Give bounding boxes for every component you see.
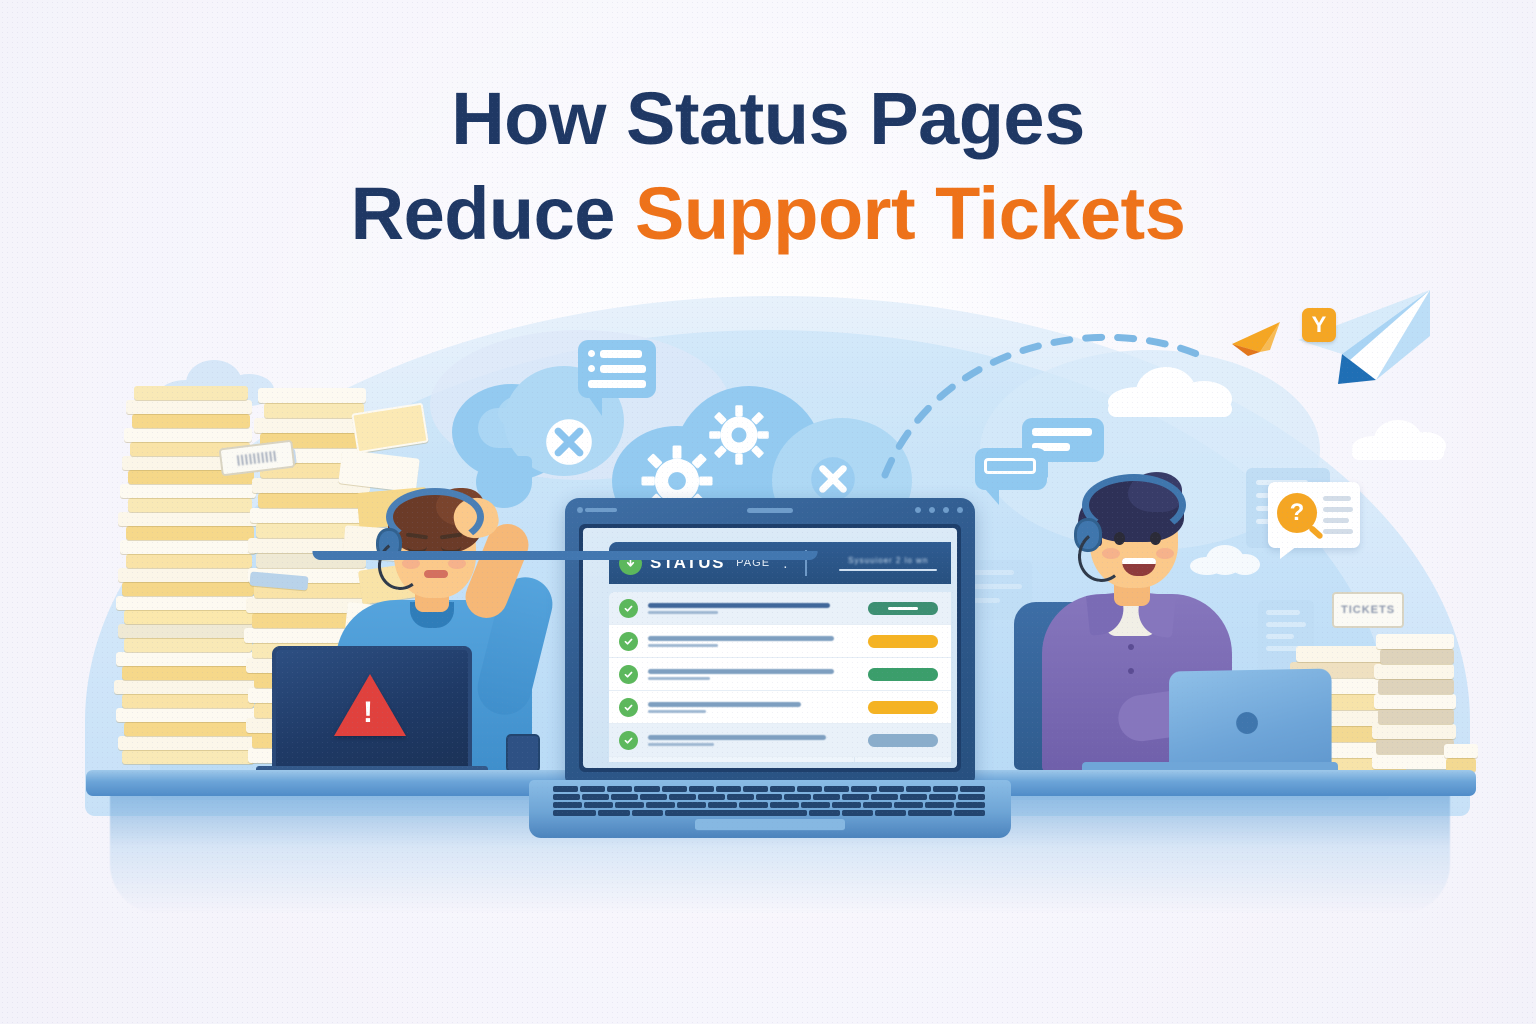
status-badge-inner <box>888 607 918 610</box>
service-name-placeholder <box>648 636 855 647</box>
service-name-placeholder <box>648 669 855 680</box>
magnifier-handle-icon <box>1308 525 1324 540</box>
status-cell <box>855 701 951 714</box>
keyboard-key[interactable] <box>646 802 675 808</box>
status-cell <box>855 602 951 615</box>
check-circle-icon <box>619 698 638 717</box>
computer-mouse <box>506 734 540 774</box>
service-name-placeholder <box>648 603 855 614</box>
paper-sheet <box>126 400 252 414</box>
paper-sheet <box>1444 744 1478 758</box>
paper-sheet <box>1380 649 1454 664</box>
paper-sheet <box>122 750 254 764</box>
keyboard <box>553 786 985 816</box>
text-bar-sub <box>648 644 718 647</box>
keyboard-key[interactable] <box>925 802 954 808</box>
paper-sheet <box>118 736 256 750</box>
center-laptop-lid: STATUS PAGE . Sysuuioer 2 lo wn <box>565 498 975 783</box>
status-badge <box>868 635 938 648</box>
text-bar <box>648 603 830 608</box>
title-line-2: Reduce Support Tickets <box>0 167 1536 262</box>
left-stack-label-text: |||||||||| <box>236 450 278 467</box>
status-page-rows <box>609 592 951 762</box>
help-card-tail <box>1280 546 1297 559</box>
paper-sheet <box>120 540 256 554</box>
check-circle-icon <box>619 731 638 750</box>
page-title: How Status Pages Reduce Support Tickets <box>0 72 1536 261</box>
keyboard-key[interactable] <box>615 802 644 808</box>
keyboard-key[interactable] <box>900 794 927 800</box>
paper-sheet <box>126 526 254 540</box>
status-cell <box>855 635 951 648</box>
help-card-line <box>1323 507 1353 512</box>
lid-dot-decor <box>577 507 583 513</box>
keyboard-key[interactable] <box>863 802 892 808</box>
paper-sheet <box>116 708 258 722</box>
paper-sheet <box>122 666 256 680</box>
keyboard-key[interactable] <box>797 786 822 792</box>
paper-sheet <box>254 418 366 433</box>
gear-icon <box>708 404 770 466</box>
center-laptop-bezel: STATUS PAGE . Sysuuioer 2 lo wn <box>579 524 961 772</box>
right-stack-label: TICKETS <box>1332 592 1404 628</box>
shirt-button <box>1128 668 1134 674</box>
paper-sheet <box>258 388 366 403</box>
center-laptop-front-edge <box>313 551 818 560</box>
keyboard-key[interactable] <box>553 794 580 800</box>
keyboard-key[interactable] <box>871 794 898 800</box>
chat-bubble-icon <box>578 340 656 398</box>
keyboard-row <box>553 802 985 808</box>
paper-sheet <box>1372 724 1456 739</box>
service-name-placeholder <box>648 702 855 713</box>
shirt-button <box>1128 644 1134 650</box>
paper-sheet <box>114 680 258 694</box>
paper-sheet <box>1374 664 1454 679</box>
keyboard-key[interactable] <box>727 794 754 800</box>
right-stack-label-text: TICKETS <box>1341 604 1395 616</box>
table-row[interactable] <box>609 625 951 658</box>
x-mark-icon <box>545 418 593 466</box>
status-badge <box>868 668 938 681</box>
text-bar <box>648 669 834 674</box>
paper-sheet <box>124 428 252 442</box>
help-card-line <box>1323 529 1353 534</box>
title-line-2-accent: Support Tickets <box>635 172 1185 255</box>
paper-sheet <box>128 498 252 512</box>
agent-mouth <box>424 570 448 578</box>
center-laptop-base <box>529 780 1011 838</box>
status-badge <box>868 701 938 714</box>
keyboard-key[interactable] <box>580 786 605 792</box>
keyboard-key[interactable] <box>770 786 795 792</box>
keyboard-key[interactable] <box>607 786 632 792</box>
keyboard-key[interactable] <box>739 802 768 808</box>
keyboard-row <box>553 786 985 792</box>
status-cell <box>855 734 951 747</box>
keyboard-row <box>553 794 985 800</box>
text-bar-sub <box>648 743 714 746</box>
paper-sheet <box>132 414 250 428</box>
keyboard-key[interactable] <box>813 794 840 800</box>
paper-sheet <box>118 568 256 582</box>
keyboard-key[interactable] <box>598 810 629 816</box>
status-page-screen: STATUS PAGE . Sysuuioer 2 lo wn <box>583 528 957 768</box>
plane-badge-symbol: Y <box>1312 314 1327 336</box>
keyboard-key[interactable] <box>665 810 808 816</box>
text-bar-sub <box>648 710 706 713</box>
lid-dot-decor <box>915 507 921 513</box>
paper-sheet <box>124 638 252 652</box>
help-card-line <box>1323 518 1349 523</box>
keyboard-key[interactable] <box>906 786 931 792</box>
keyboard-key[interactable] <box>632 810 663 816</box>
trackpad[interactable] <box>695 819 845 831</box>
keyboard-key[interactable] <box>929 794 956 800</box>
status-badge <box>868 734 938 747</box>
keyboard-key[interactable] <box>842 810 873 816</box>
keyboard-key[interactable] <box>756 794 783 800</box>
paper-sheet <box>134 386 248 400</box>
paper-sheet <box>124 610 254 624</box>
title-line-1: How Status Pages <box>0 72 1536 167</box>
check-circle-icon <box>619 599 638 618</box>
service-name-placeholder <box>648 735 855 746</box>
table-row[interactable] <box>609 691 951 724</box>
paper-sheet <box>124 722 254 736</box>
webcam-icon <box>747 508 793 513</box>
lid-dash-decor <box>585 508 617 512</box>
keyboard-key[interactable] <box>708 802 737 808</box>
table-row[interactable] <box>609 658 951 691</box>
keyboard-key[interactable] <box>801 802 830 808</box>
laptop-logo-icon <box>1236 712 1258 734</box>
paper-plane-icon: Y <box>1230 288 1430 398</box>
paper-sheet <box>120 484 256 498</box>
lid-dot-decor <box>957 507 963 513</box>
paper-sheet <box>126 554 252 568</box>
keyboard-key[interactable] <box>960 786 985 792</box>
keyboard-key[interactable] <box>954 810 985 816</box>
keyboard-key[interactable] <box>770 802 799 808</box>
keyboard-key[interactable] <box>879 786 904 792</box>
keyboard-key[interactable] <box>851 786 876 792</box>
paper-sheet <box>1372 754 1454 769</box>
keyboard-key[interactable] <box>553 786 578 792</box>
paper-sheet <box>1378 709 1454 724</box>
status-page-meta-text: Sysuuioer 2 lo wn <box>825 556 951 565</box>
keyboard-row <box>553 810 985 816</box>
status-page-meta: Sysuuioer 2 lo wn <box>825 556 951 571</box>
keyboard-key[interactable] <box>582 794 609 800</box>
text-bar-sub <box>648 677 710 680</box>
keyboard-key[interactable] <box>958 794 985 800</box>
right-laptop <box>1169 668 1332 775</box>
keyboard-key[interactable] <box>784 794 811 800</box>
check-circle-icon <box>619 632 638 651</box>
lid-dot-decor <box>943 507 949 513</box>
keyboard-key[interactable] <box>553 802 582 808</box>
keyboard-key[interactable] <box>677 802 706 808</box>
keyboard-key[interactable] <box>743 786 768 792</box>
status-badge <box>868 602 938 615</box>
keyboard-key[interactable] <box>933 786 958 792</box>
table-row[interactable] <box>609 592 951 625</box>
help-card-symbol: ? <box>1290 499 1305 527</box>
help-question-card: ? <box>1268 482 1360 548</box>
large-paper-plane-icon <box>1280 288 1440 394</box>
keyboard-key[interactable] <box>716 786 741 792</box>
paper-sheet <box>1374 694 1456 709</box>
paper-sheet <box>1378 679 1454 694</box>
paper-sheet <box>122 694 254 708</box>
keyboard-key[interactable] <box>842 794 869 800</box>
title-line-2-plain: Reduce <box>351 172 635 255</box>
warning-symbol: ! <box>363 698 373 728</box>
keyboard-key[interactable] <box>634 786 659 792</box>
table-row[interactable] <box>609 724 951 757</box>
keyboard-key[interactable] <box>689 786 714 792</box>
keyboard-key[interactable] <box>662 786 687 792</box>
plane-badge: Y <box>1302 308 1336 342</box>
paper-sheet <box>118 512 258 526</box>
keyboard-key[interactable] <box>698 794 725 800</box>
keyboard-key[interactable] <box>824 786 849 792</box>
paper-sheet <box>116 652 256 666</box>
status-page-meta-rule <box>839 569 937 571</box>
paper-sheet <box>264 403 364 418</box>
cloud-icon <box>1352 420 1448 460</box>
paper-sheet <box>118 624 256 638</box>
keyboard-key[interactable] <box>875 810 906 816</box>
text-bar <box>648 636 834 641</box>
keyboard-key[interactable] <box>956 802 985 808</box>
text-bar <box>648 702 801 707</box>
status-page-header: STATUS PAGE . Sysuuioer 2 lo wn <box>609 542 951 584</box>
text-bar <box>648 735 826 740</box>
paper-sheet <box>1376 634 1454 649</box>
keyboard-key[interactable] <box>832 802 861 808</box>
keyboard-key[interactable] <box>611 794 638 800</box>
x-mark-icon <box>810 456 856 502</box>
paper-sheet <box>122 582 254 596</box>
left-laptop: ! <box>272 646 472 774</box>
help-card-line <box>1323 496 1351 501</box>
keyboard-key[interactable] <box>809 810 840 816</box>
text-bar-sub <box>648 611 718 614</box>
paper-sheet <box>116 596 258 610</box>
keyboard-key[interactable] <box>584 802 613 808</box>
keyboard-key[interactable] <box>640 794 667 800</box>
check-circle-icon <box>619 665 638 684</box>
agent-cheek <box>1156 548 1174 559</box>
keyboard-key[interactable] <box>894 802 923 808</box>
illustration-canvas: Y ? <box>0 0 1536 1024</box>
status-cell <box>855 668 951 681</box>
paper-sheet <box>1376 739 1454 754</box>
keyboard-key[interactable] <box>669 794 696 800</box>
lid-dot-decor <box>929 507 935 513</box>
keyboard-key[interactable] <box>553 810 596 816</box>
keyboard-key[interactable] <box>908 810 951 816</box>
